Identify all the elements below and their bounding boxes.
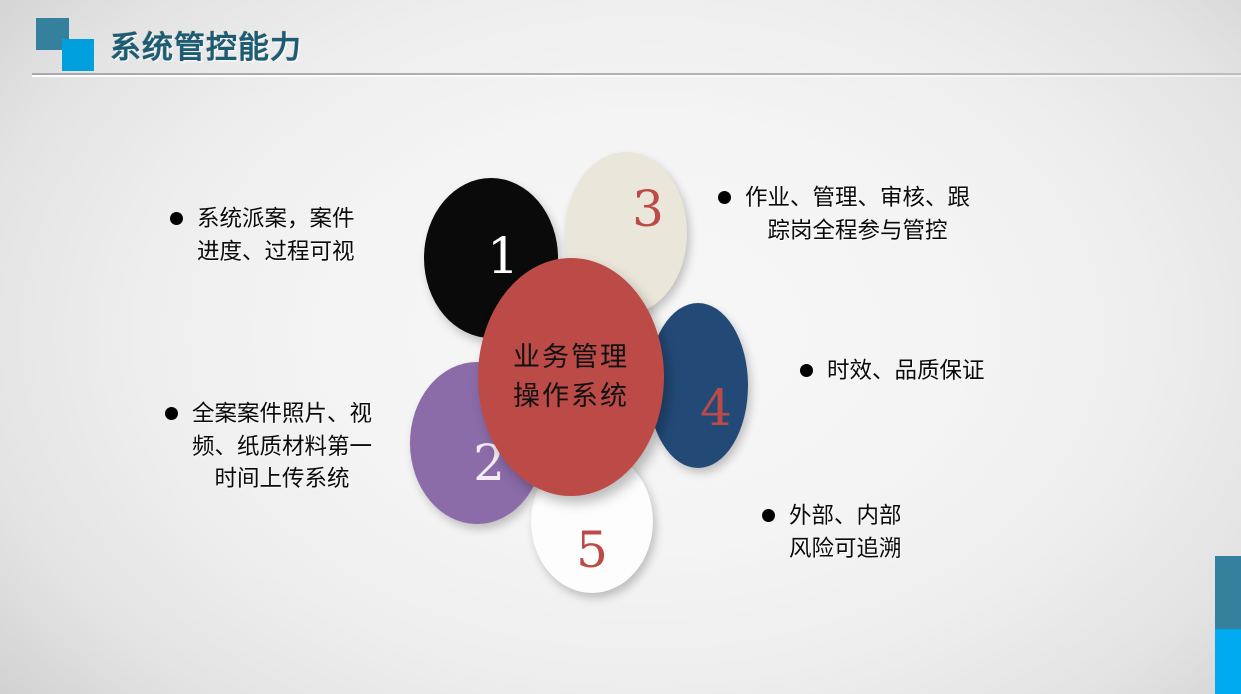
callout-3-text: 作业、管理、审核、跟 踪岗全程参与管控: [745, 182, 970, 247]
center-node-line-1: 业务管理: [513, 338, 629, 377]
callout-2-text: 全案案件照片、视 频、纸质材料第一 时间上传系统: [192, 398, 372, 496]
callout-1: 系统派案，案件 进度、过程可视: [170, 203, 410, 268]
callout-5: 外部、内部 风险可追溯: [762, 500, 992, 565]
petal-number-1: 1: [487, 231, 519, 281]
callout-4: 时效、品质保证: [800, 355, 1050, 388]
callout-4-text: 时效、品质保证: [827, 355, 985, 388]
callout-1-text: 系统派案，案件 进度、过程可视: [197, 203, 355, 268]
bullet-dot-icon: [800, 364, 813, 377]
petal-number-4: 4: [700, 383, 732, 433]
callout-5-text: 外部、内部 风险可追溯: [789, 500, 902, 565]
center-node[interactable]: 业务管理操作系统: [478, 258, 664, 496]
corner-mark-top: [1215, 556, 1241, 629]
callout-2: 全案案件照片、视 频、纸质材料第一 时间上传系统: [165, 398, 415, 496]
petal-diagram: 12345业务管理操作系统系统派案，案件 进度、过程可视全案案件照片、视 频、纸…: [0, 0, 1241, 694]
bullet-dot-icon: [170, 212, 183, 225]
bullet-dot-icon: [762, 509, 775, 522]
slide-canvas: 系统管控能力 12345业务管理操作系统系统派案，案件 进度、过程可视全案案件照…: [0, 0, 1241, 694]
callout-3: 作业、管理、审核、跟 踪岗全程参与管控: [718, 182, 1038, 247]
petal-number-5: 5: [576, 525, 608, 575]
bullet-dot-icon: [718, 191, 731, 204]
bullet-dot-icon: [165, 407, 178, 420]
center-node-line-2: 操作系统: [513, 377, 629, 416]
petal-number-3: 3: [632, 184, 664, 234]
corner-mark-bottom: [1215, 629, 1241, 694]
